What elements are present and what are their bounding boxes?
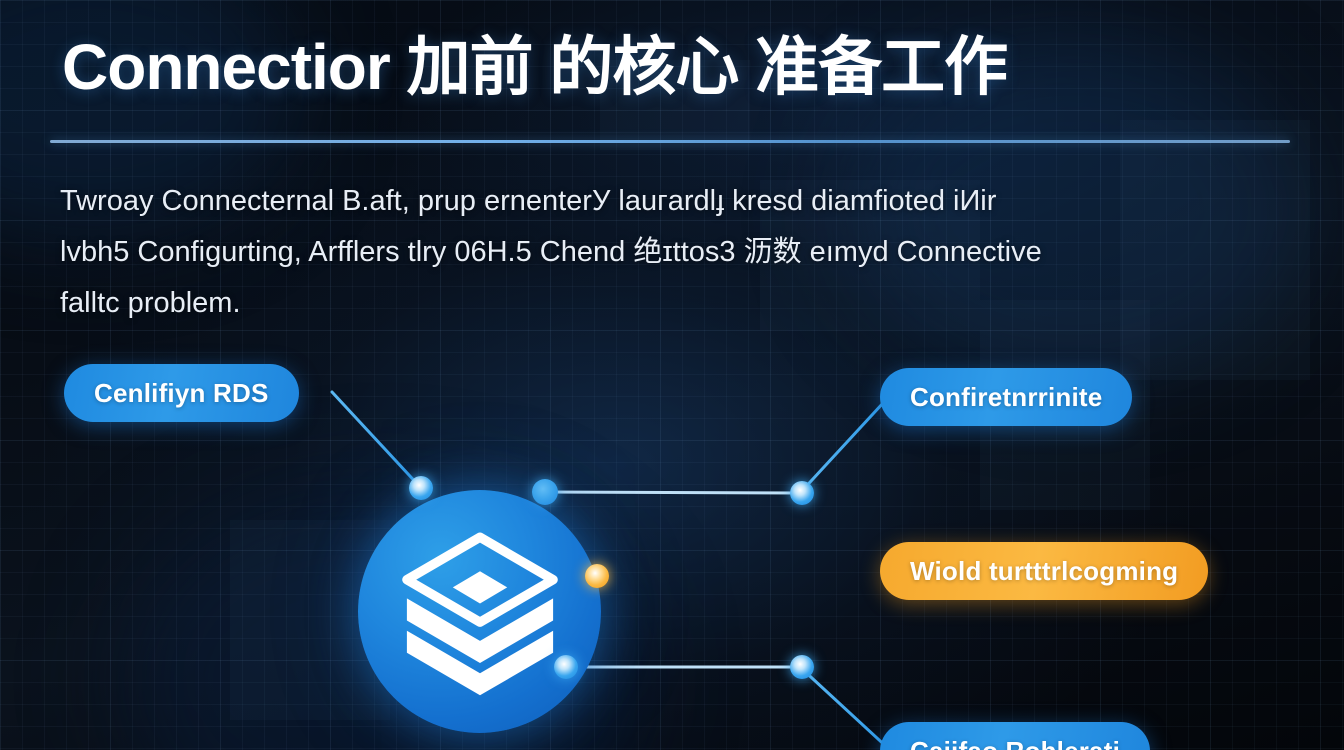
connector-config-diagonal: [800, 402, 884, 493]
node-config[interactable]: [532, 479, 558, 505]
node-rds[interactable]: [409, 476, 433, 500]
pill-rds[interactable]: Cenlifiyn RDS: [64, 364, 299, 422]
title-divider: [50, 140, 1290, 143]
pill-warning-label: Wiold turtttrlcoɡming: [910, 556, 1178, 587]
connector-problem-diagonal: [800, 667, 890, 750]
pill-config[interactable]: Confiretnrrinite: [880, 368, 1132, 426]
hub-circle: [358, 490, 601, 733]
node-problem[interactable]: [554, 655, 578, 679]
body-paragraph: Twroay Connecternal B.aft, prup ernenter…: [60, 176, 1275, 329]
body-line-3: falltc problem.: [60, 278, 1275, 329]
body-line-1: Twroay Connecternal B.aft, prup ernenter…: [60, 176, 1275, 227]
pill-rds-label: Cenlifiyn RDS: [94, 378, 269, 409]
node-config-2[interactable]: [790, 481, 814, 505]
connector-config-horizontal: [545, 492, 800, 493]
connection-diagram: Cenlifiyn RDS Confiretnrrinite Wiold tur…: [0, 330, 1344, 750]
layered-stack-icon: [395, 527, 565, 697]
pill-problem-label: Caijfao Rohlerati: [910, 736, 1120, 750]
infographic-canvas: Connectior 加前 的核心 准备工作 Twroay Connectern…: [0, 0, 1344, 750]
node-problem-2[interactable]: [790, 655, 814, 679]
pill-problem[interactable]: Caijfao Rohlerati: [880, 722, 1150, 750]
pill-config-label: Confiretnrrinite: [910, 382, 1102, 413]
pill-warning[interactable]: Wiold turtttrlcoɡming: [880, 542, 1208, 600]
page-title: Connectior 加前 的核心 准备工作: [62, 34, 1292, 101]
node-warning[interactable]: [585, 564, 609, 588]
body-line-2: lvbh5 Configurting, Arfflers tlry 06H.5 …: [60, 227, 1275, 278]
connector-rds: [332, 392, 421, 488]
